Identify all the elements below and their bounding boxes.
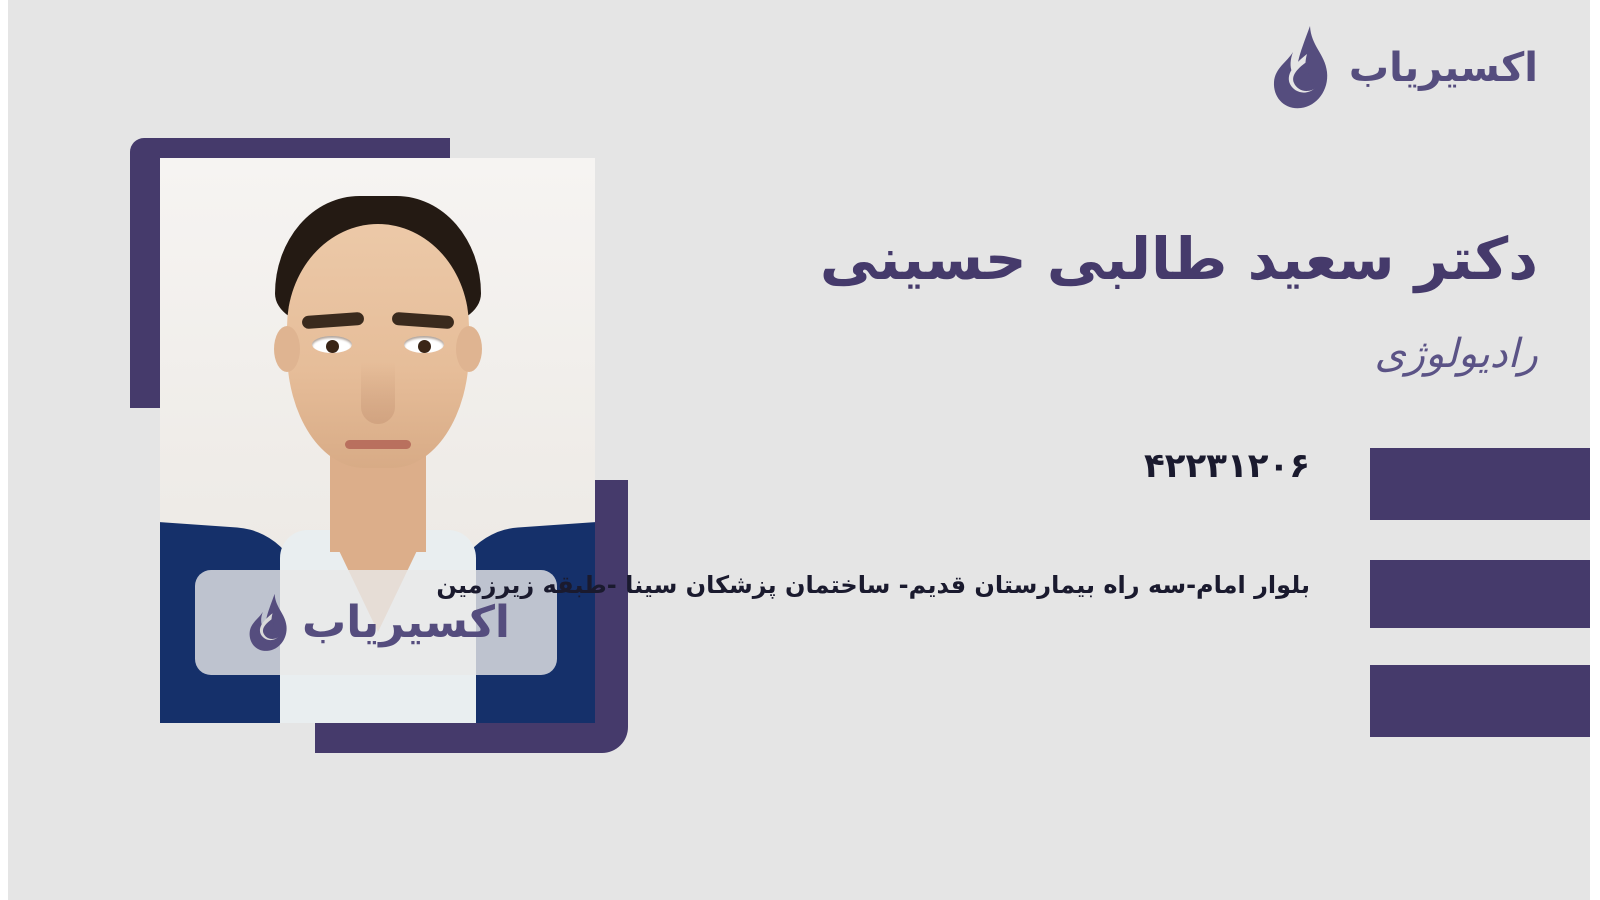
watermark-wordmark: اکسیریاب bbox=[302, 601, 510, 645]
doctor-phone[interactable]: ۴۲۲۳۱۲۰۶ bbox=[1144, 446, 1310, 487]
pupil-left bbox=[326, 340, 339, 353]
right-edge-strip bbox=[1590, 0, 1600, 900]
doctor-address: بلوار امام-سه راه بیمارستان قدیم- ساختما… bbox=[436, 570, 1310, 601]
pupil-right bbox=[418, 340, 431, 353]
doctor-name: دکتر سعید طالبی حسینی bbox=[820, 226, 1538, 293]
doctor-specialty: رادیولوژی bbox=[1374, 330, 1538, 378]
mouth bbox=[345, 440, 411, 449]
neck bbox=[330, 456, 426, 552]
ear-right bbox=[456, 326, 482, 372]
accent-bar-2 bbox=[1370, 560, 1590, 628]
brand-wordmark: اکسیریاب bbox=[1349, 48, 1538, 88]
flame-droplet-icon bbox=[1263, 24, 1335, 112]
nose bbox=[361, 362, 395, 424]
accent-bar-3 bbox=[1370, 665, 1590, 737]
doctor-profile-card: اکسیریاب bbox=[0, 0, 1600, 900]
ear-left bbox=[274, 326, 300, 372]
brand-logo[interactable]: اکسیریاب bbox=[1263, 24, 1538, 112]
accent-bar-1 bbox=[1370, 448, 1590, 520]
flame-droplet-icon bbox=[242, 591, 292, 655]
